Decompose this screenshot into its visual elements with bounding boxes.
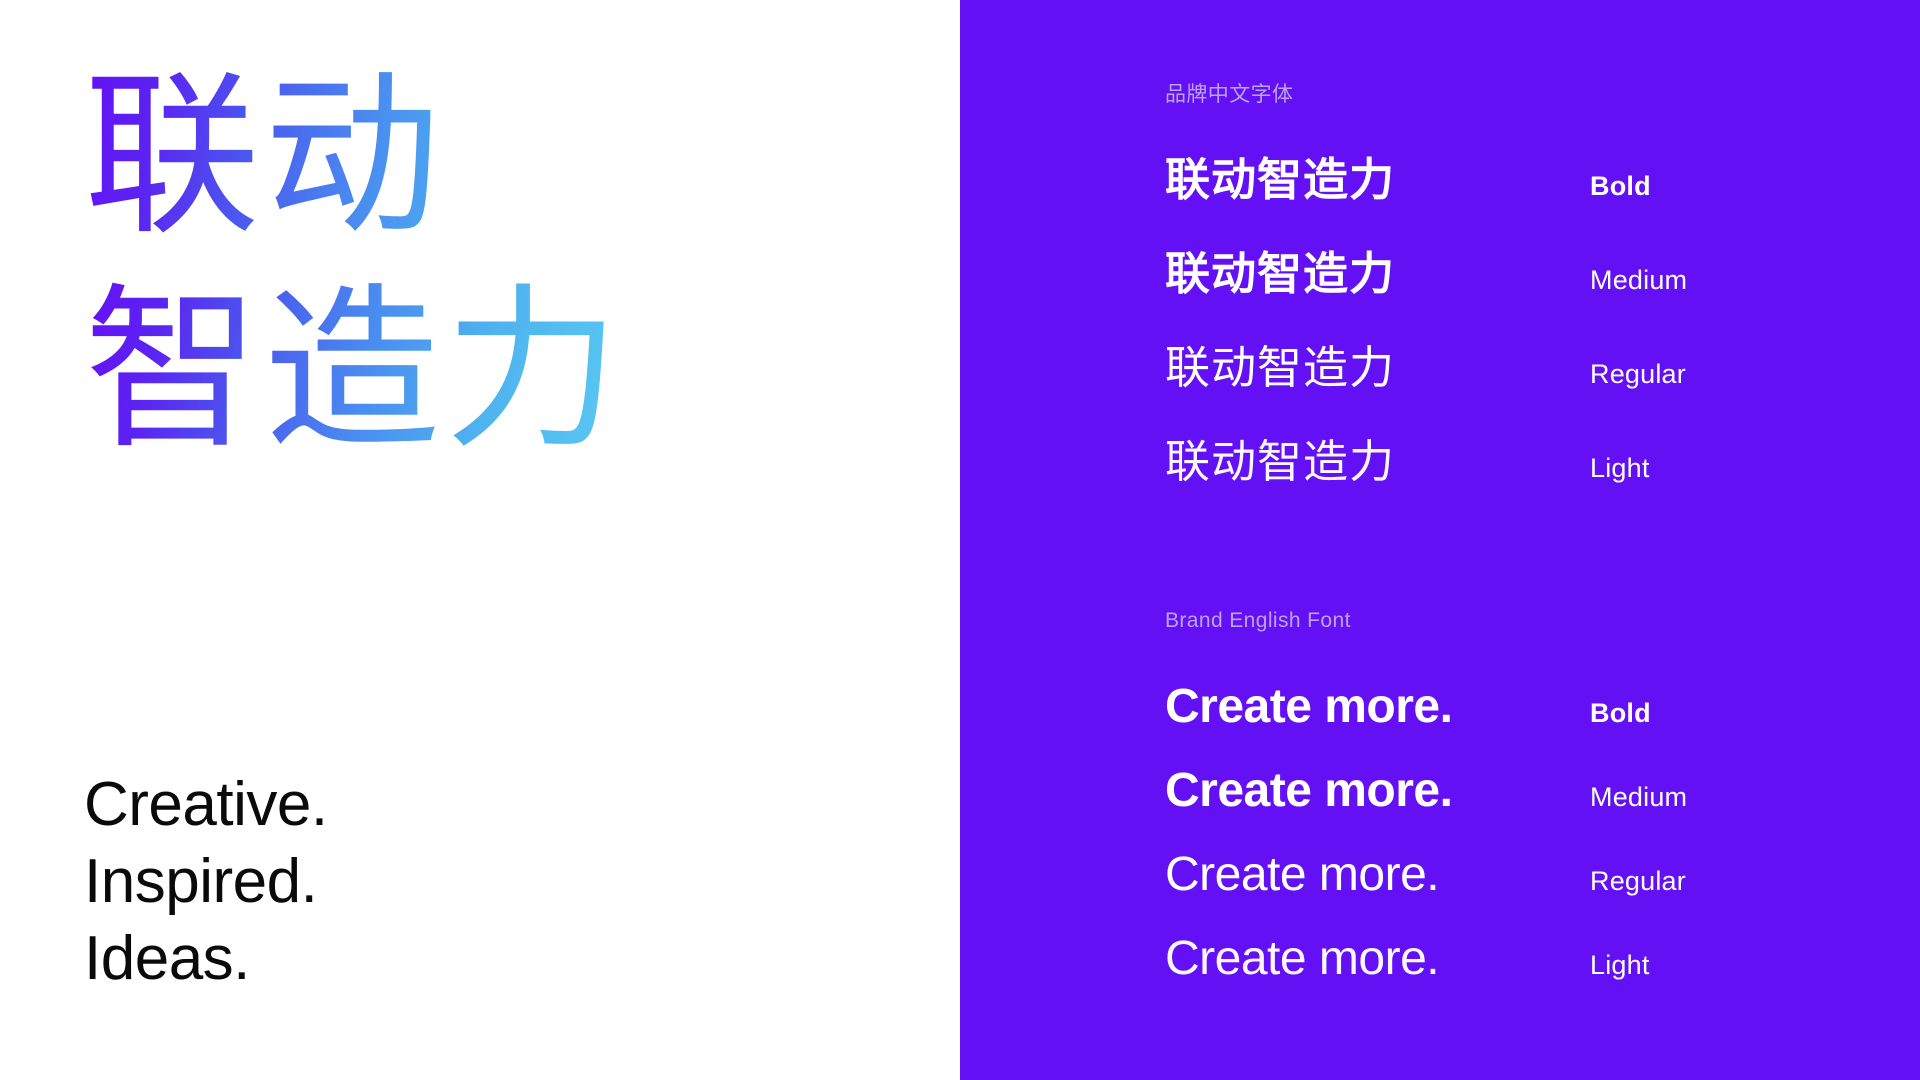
english-specimen-regular: Create more. xyxy=(1165,848,1590,902)
chinese-font-group: 品牌中文字体 联动智造力 Bold 联动智造力 Medium 联动智造力 Reg… xyxy=(1165,82,1880,530)
right-panel: 品牌中文字体 联动智造力 Bold 联动智造力 Medium 联动智造力 Reg… xyxy=(960,0,1920,1080)
specimen-row: Create more. Bold xyxy=(1165,680,1880,764)
specimen-row: 联动智造力 Medium xyxy=(1165,248,1880,342)
left-panel: 联动 智造力 Creative. Inspired. Ideas. xyxy=(0,0,960,1080)
english-group-label: Brand English Font xyxy=(1165,608,1880,634)
specimen-row: 联动智造力 Regular xyxy=(1165,342,1880,436)
chinese-specimen-regular: 联动智造力 xyxy=(1165,342,1590,394)
chinese-weight-label-regular: Regular xyxy=(1590,359,1686,389)
tagline-block: Creative. Inspired. Ideas. xyxy=(84,766,328,997)
tagline-line-3: Ideas. xyxy=(84,920,328,997)
chinese-specimen-light: 联动智造力 xyxy=(1165,436,1590,488)
hero-line-1: 联动 xyxy=(84,68,904,246)
english-specimen-light: Create more. xyxy=(1165,932,1590,986)
tagline-line-1: Creative. xyxy=(84,766,328,843)
tagline-line-2: Inspired. xyxy=(84,843,328,920)
chinese-weight-label-medium: Medium xyxy=(1590,265,1687,295)
chinese-weight-label-bold: Bold xyxy=(1590,171,1651,201)
english-weight-label-bold: Bold xyxy=(1590,698,1651,728)
chinese-specimen-bold: 联动智造力 xyxy=(1165,154,1590,206)
specimen-row: Create more. Medium xyxy=(1165,764,1880,848)
english-weight-label-light: Light xyxy=(1590,950,1650,980)
specimen-row: 联动智造力 Light xyxy=(1165,436,1880,530)
english-specimen-bold: Create more. xyxy=(1165,680,1590,734)
english-weight-label-regular: Regular xyxy=(1590,866,1686,896)
english-specimen-medium: Create more. xyxy=(1165,764,1590,818)
chinese-specimen-medium: 联动智造力 xyxy=(1165,248,1590,300)
english-font-group: Brand English Font Create more. Bold Cre… xyxy=(1165,608,1880,1016)
chinese-weight-label-light: Light xyxy=(1590,453,1650,483)
hero-wordmark: 联动 智造力 xyxy=(84,68,904,460)
english-weight-label-medium: Medium xyxy=(1590,782,1687,812)
hero-line-2: 智造力 xyxy=(84,282,904,460)
chinese-group-label: 品牌中文字体 xyxy=(1165,82,1880,108)
specimen-row: 联动智造力 Bold xyxy=(1165,154,1880,248)
brand-typography-board: 联动 智造力 Creative. Inspired. Ideas. 品牌中文字体… xyxy=(0,0,1920,1080)
specimen-row: Create more. Light xyxy=(1165,932,1880,1016)
specimen-row: Create more. Regular xyxy=(1165,848,1880,932)
